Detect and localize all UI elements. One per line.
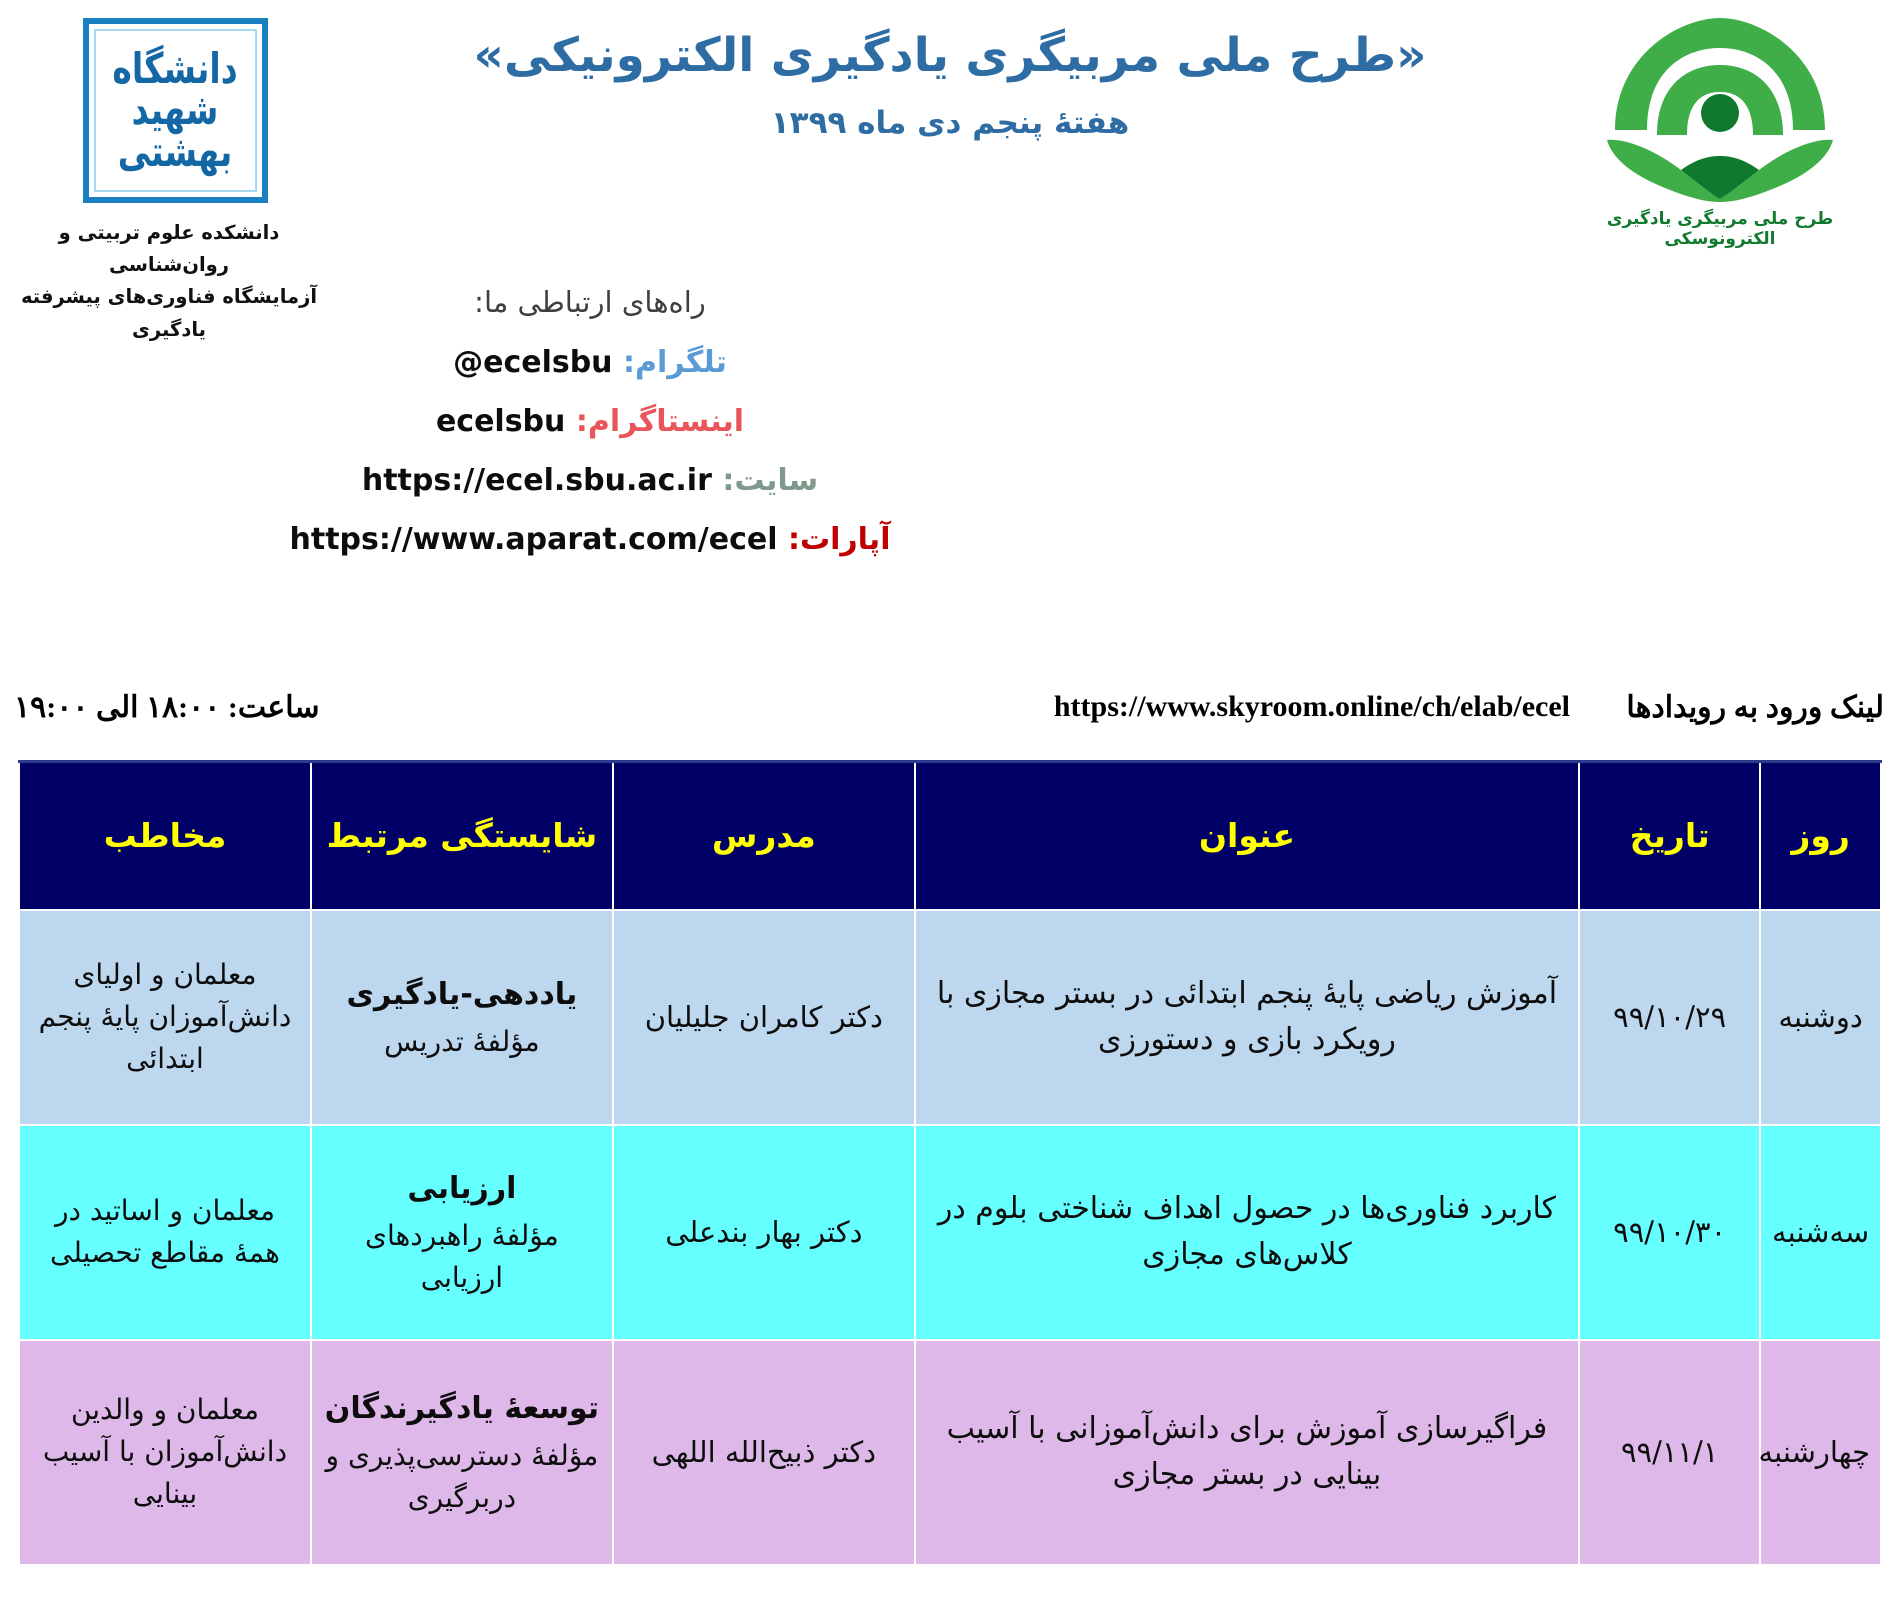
contact-aparat[interactable]: آپارات: https://www.aparat.com/ecel xyxy=(0,522,1180,557)
university-seal-calligraphy: دانشگاه شهید بهشتی xyxy=(112,48,237,172)
contact-site-value[interactable]: https://ecel.sbu.ac.ir xyxy=(362,463,712,498)
schedule-table: روز تاریخ عنوان مدرس شایستگی مرتبط مخاطب… xyxy=(18,760,1882,1566)
cell-competency: یاددهی-یادگیری مؤلفهٔ تدریس xyxy=(311,910,613,1125)
contact-telegram-label: تلگرام xyxy=(635,345,727,380)
ecel-wifi-hands-icon xyxy=(1595,10,1845,205)
schedule-table-body: دوشنبه ۹۹/۱۰/۲۹ آموزش ریاضی پایهٔ پنجم ا… xyxy=(19,910,1881,1565)
table-header-row: روز تاریخ عنوان مدرس شایستگی مرتبط مخاطب xyxy=(19,762,1881,910)
cell-date: ۹۹/۱۰/۲۹ xyxy=(1579,910,1760,1125)
page-title: «طرح ملی مربیگری یادگیری الکترونیکی» xyxy=(360,24,1540,87)
contact-colon: : xyxy=(576,404,588,439)
column-header-title: عنوان xyxy=(915,762,1579,910)
column-header-audience: مخاطب xyxy=(19,762,311,910)
contact-block: راه‌های ارتباطی ما: تلگرام: @ecelsbu این… xyxy=(0,285,1180,581)
cell-teacher: دکتر بهار بندعلی xyxy=(613,1125,915,1340)
table-row: دوشنبه ۹۹/۱۰/۲۹ آموزش ریاضی پایهٔ پنجم ا… xyxy=(19,910,1881,1125)
cell-competency-main: ارزیابی xyxy=(322,1166,602,1211)
contact-telegram[interactable]: تلگرام: @ecelsbu xyxy=(0,345,1180,380)
title-block: «طرح ملی مربیگری یادگیری الکترونیکی» هفت… xyxy=(360,24,1540,141)
cell-audience: معلمان و اساتید در همهٔ مقاطع تحصیلی xyxy=(19,1125,311,1340)
university-seal-icon: دانشگاه شهید بهشتی xyxy=(83,18,268,203)
contact-instagram-label: اینستاگرام xyxy=(588,404,744,439)
cell-audience: معلمان و والدین دانش‌آموزان با آسیب بینا… xyxy=(19,1340,311,1565)
contact-site-label: سایت xyxy=(734,463,818,498)
poster-header: دانشگاه شهید بهشتی دانشکده علوم تربیتی و… xyxy=(0,0,1900,330)
cell-competency-main: یاددهی-یادگیری xyxy=(322,972,602,1017)
cell-day: چهارشنبه xyxy=(1760,1340,1881,1565)
cell-day: دوشنبه xyxy=(1760,910,1881,1125)
contact-colon: : xyxy=(788,522,800,557)
contact-colon: : xyxy=(623,345,635,380)
cell-competency-sub: مؤلفهٔ راهبردهای ارزیابی xyxy=(322,1215,602,1299)
schedule-table-head: روز تاریخ عنوان مدرس شایستگی مرتبط مخاطب xyxy=(19,762,1881,910)
column-header-date: تاریخ xyxy=(1579,762,1760,910)
column-header-teacher: مدرس xyxy=(613,762,915,910)
cell-date: ۹۹/۱۱/۱ xyxy=(1579,1340,1760,1565)
cell-teacher: دکتر ذبیح‌الله اللهی xyxy=(613,1340,915,1565)
contact-instagram[interactable]: اینستاگرام: ecelsbu xyxy=(0,404,1180,439)
cell-title: آموزش ریاضی پایهٔ پنجم ابتدائی در بستر م… xyxy=(915,910,1579,1125)
faculty-line-1: دانشکده علوم تربیتی و روان‌شناسی xyxy=(0,217,338,281)
cell-competency-sub: مؤلفهٔ تدریس xyxy=(322,1021,602,1063)
entry-link-label: لینک ورود به رویدادها xyxy=(1626,690,1884,725)
table-row: چهارشنبه ۹۹/۱۱/۱ فراگیرسازی آموزش برای د… xyxy=(19,1340,1881,1565)
cell-day: سه‌شنبه xyxy=(1760,1125,1881,1340)
page-subtitle: هفتهٔ پنجم دی ماه ۱۳۹۹ xyxy=(360,105,1540,141)
cell-competency-main: توسعهٔ یادگیرندگان xyxy=(322,1386,602,1431)
cell-competency: توسعهٔ یادگیرندگان مؤلفهٔ دسترسی‌پذیری و… xyxy=(311,1340,613,1565)
column-header-competency: شایستگی مرتبط xyxy=(311,762,613,910)
cell-title: کاربرد فناوری‌ها در حصول اهداف شناختی بل… xyxy=(915,1125,1579,1340)
contact-instagram-value[interactable]: ecelsbu xyxy=(436,404,565,439)
entry-link-url[interactable]: https://www.skyroom.online/ch/elab/ecel xyxy=(1054,690,1570,724)
program-logo-block: طرح ملی مربیگری یادگیری الکترونوسکی xyxy=(1560,10,1880,249)
event-time-label: ساعت: ۱۸:۰۰ الی ۱۹:۰۰ xyxy=(14,690,320,725)
poster-page: دانشگاه شهید بهشتی دانشکده علوم تربیتی و… xyxy=(0,0,1900,1620)
schedule-table-wrap: روز تاریخ عنوان مدرس شایستگی مرتبط مخاطب… xyxy=(18,760,1882,1566)
cell-date: ۹۹/۱۰/۳۰ xyxy=(1579,1125,1760,1340)
contact-telegram-value[interactable]: @ecelsbu xyxy=(453,345,612,380)
table-row: سه‌شنبه ۹۹/۱۰/۳۰ کاربرد فناوری‌ها در حصو… xyxy=(19,1125,1881,1340)
contact-colon: : xyxy=(722,463,734,498)
contact-aparat-value[interactable]: https://www.aparat.com/ecel xyxy=(290,522,778,557)
entry-link-bar: لینک ورود به رویدادها https://www.skyroo… xyxy=(0,690,1900,742)
cell-competency-sub: مؤلفهٔ دسترسی‌پذیری و دربرگیری xyxy=(322,1435,602,1519)
contact-heading: راه‌های ارتباطی ما: xyxy=(0,285,1180,319)
cell-teacher: دکتر کامران جلیلیان xyxy=(613,910,915,1125)
cell-competency: ارزیابی مؤلفهٔ راهبردهای ارزیابی xyxy=(311,1125,613,1340)
column-header-day: روز xyxy=(1760,762,1881,910)
cell-audience: معلمان و اولیای دانش‌آموزان پایهٔ پنجم ا… xyxy=(19,910,311,1125)
contact-aparat-label: آپارات xyxy=(800,522,891,557)
program-logo-caption: طرح ملی مربیگری یادگیری الکترونوسکی xyxy=(1560,209,1880,249)
contact-site[interactable]: سایت: https://ecel.sbu.ac.ir xyxy=(0,463,1180,498)
cell-title: فراگیرسازی آموزش برای دانش‌آموزانی با آس… xyxy=(915,1340,1579,1565)
